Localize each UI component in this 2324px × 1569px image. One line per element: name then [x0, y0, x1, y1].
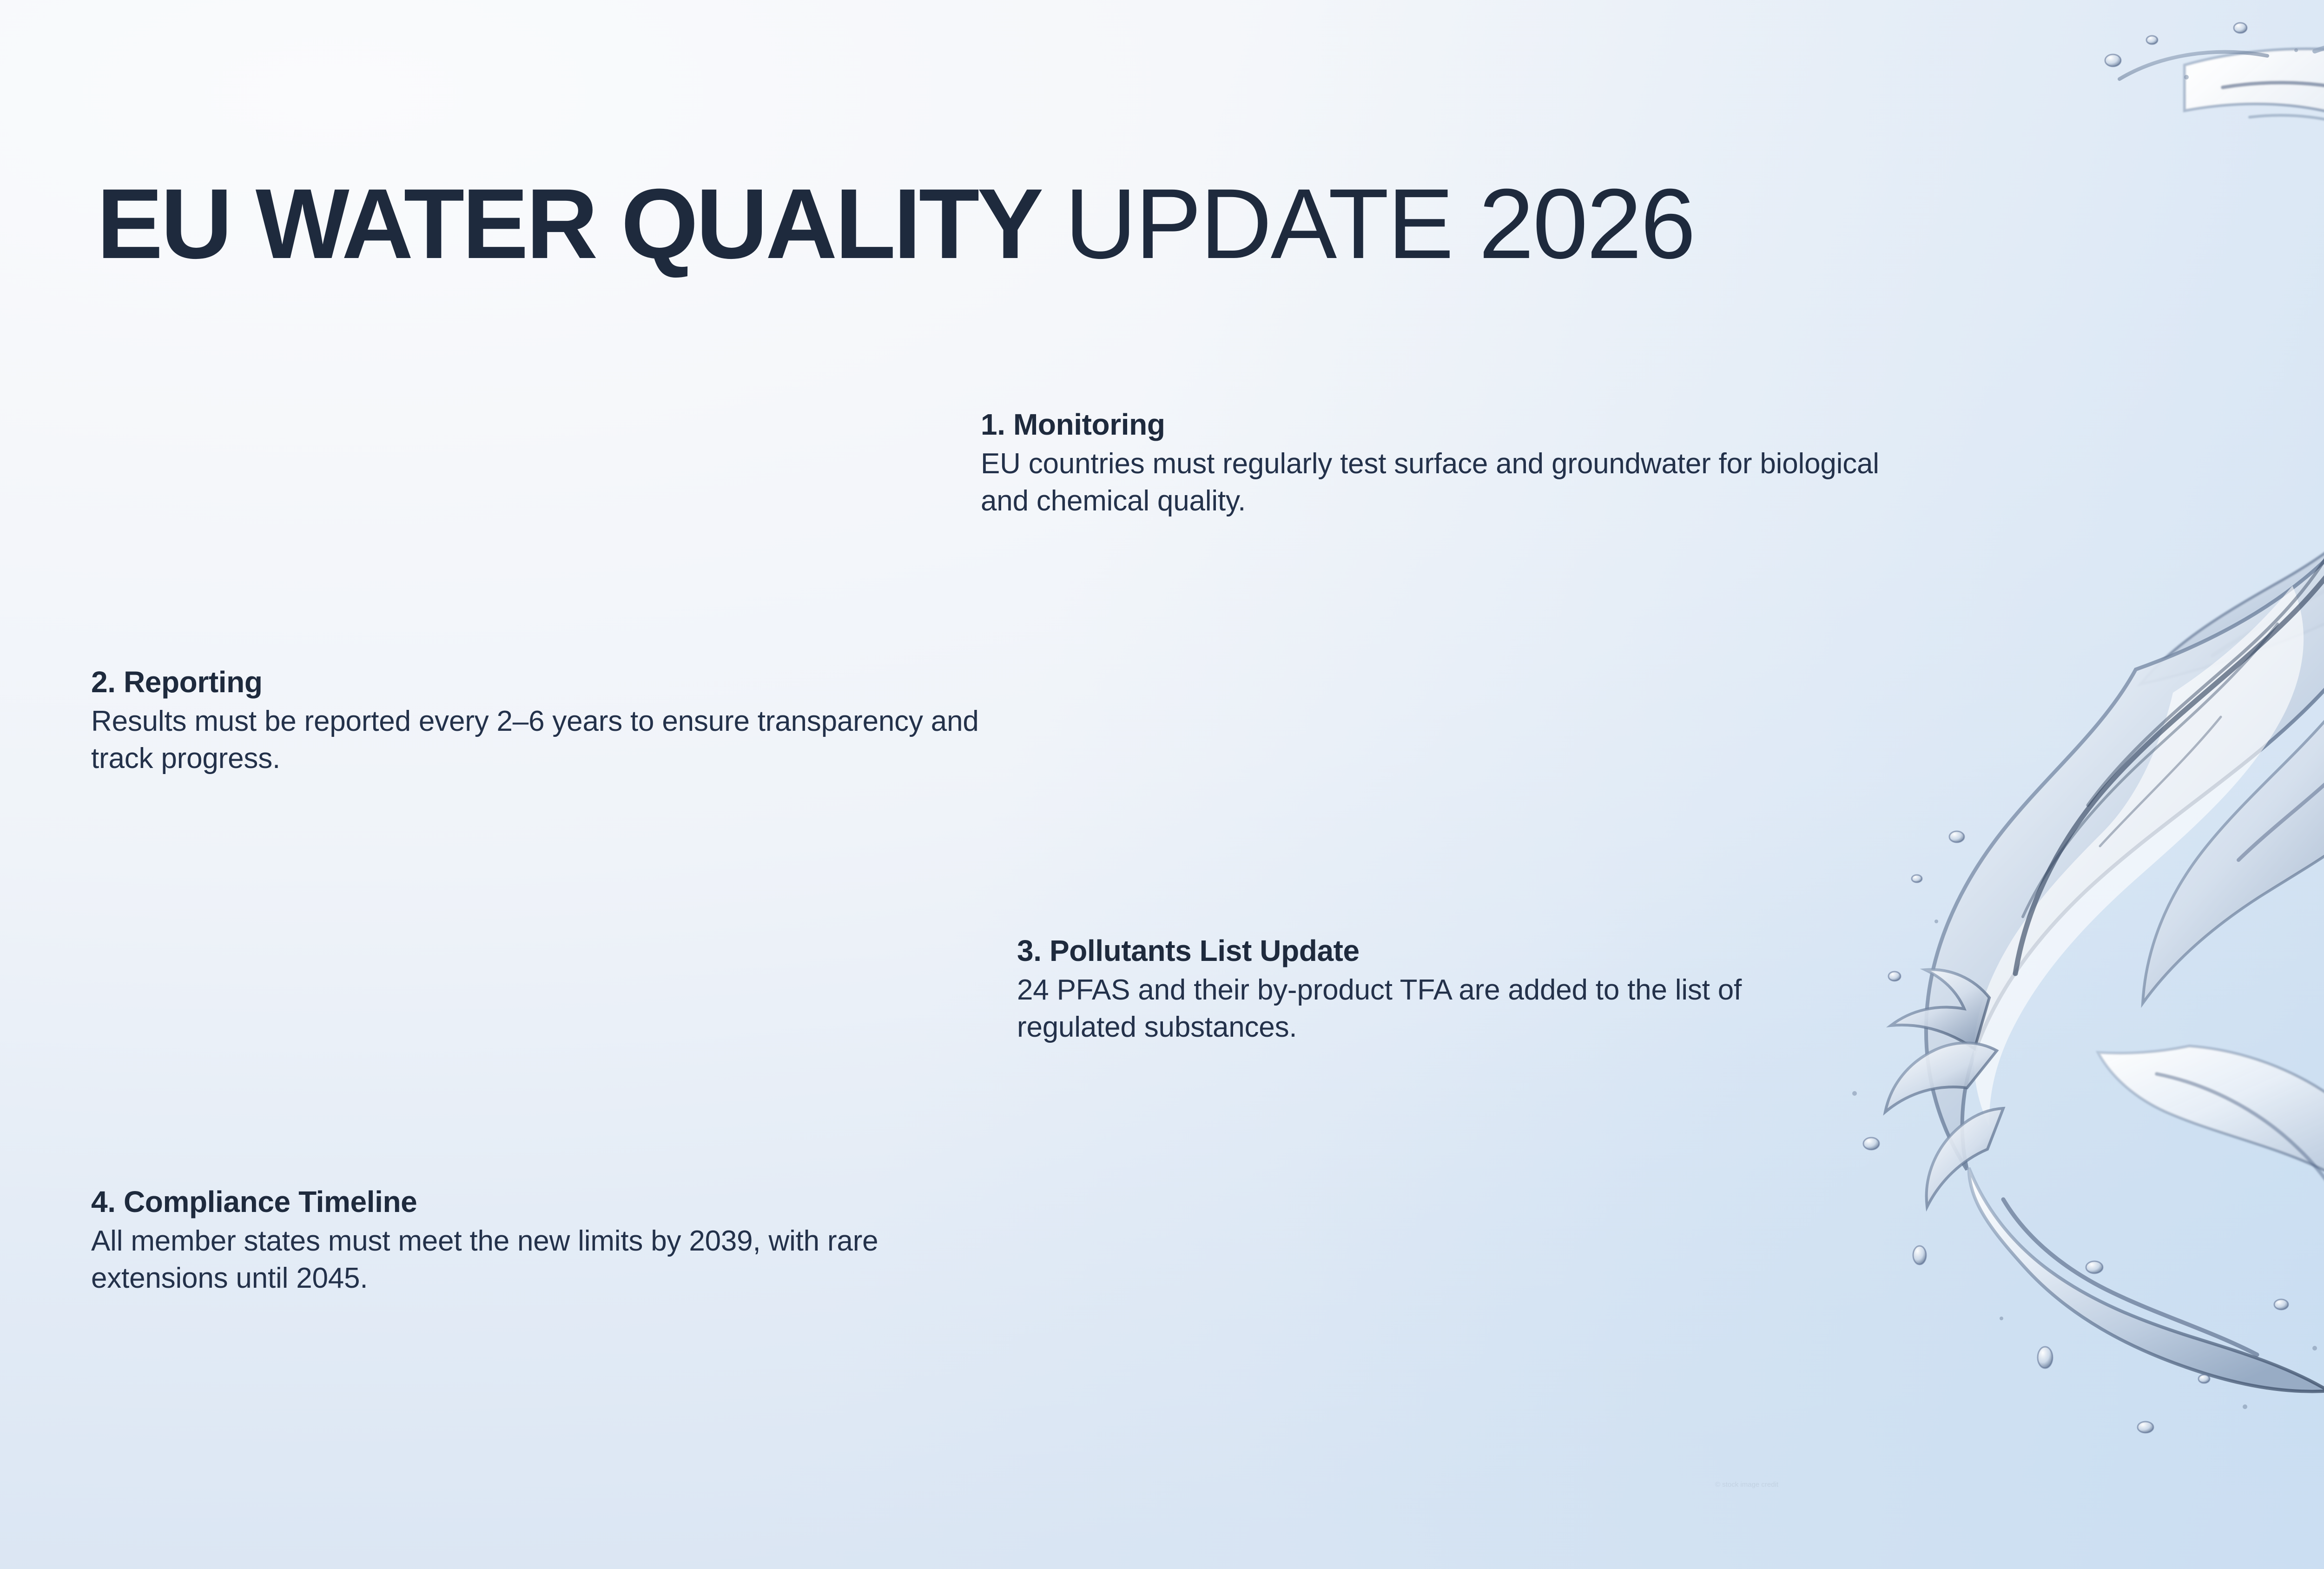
info-block-body: Results must be reported every 2–6 years…	[91, 703, 1016, 778]
page-title: EU WATER QUALITY UPDATE 2026	[97, 173, 1694, 275]
info-block-reporting: 2. Reporting Results must be reported ev…	[91, 665, 1016, 778]
page-title-light: UPDATE 2026	[1065, 168, 1695, 279]
info-block-heading: 1. Monitoring	[981, 407, 1892, 443]
info-block-monitoring: 1. Monitoring EU countries must regularl…	[981, 407, 1892, 520]
info-block-heading: 2. Reporting	[91, 665, 1016, 700]
image-credit-watermark: © stock image credit	[1715, 1478, 1836, 1490]
info-block-body: EU countries must regularly test surface…	[981, 445, 1892, 520]
info-block-compliance-timeline: 4. Compliance Timeline All member states…	[91, 1185, 909, 1298]
image-credit-text: © stock image credit	[1715, 1481, 1778, 1489]
info-block-heading: 4. Compliance Timeline	[91, 1185, 909, 1220]
water-splash-image	[1636, 9, 2324, 1460]
info-block-heading: 3. Pollutants List Update	[1017, 933, 1835, 969]
page-title-strong: EU WATER QUALITY	[97, 168, 1039, 279]
infographic-canvas: EU WATER QUALITY UPDATE 2026 1. Monitori…	[0, 0, 2324, 1569]
info-block-body: All member states must meet the new limi…	[91, 1223, 909, 1298]
info-block-pollutants-list-update: 3. Pollutants List Update 24 PFAS and th…	[1017, 933, 1835, 1046]
info-block-body: 24 PFAS and their by-product TFA are add…	[1017, 972, 1835, 1046]
